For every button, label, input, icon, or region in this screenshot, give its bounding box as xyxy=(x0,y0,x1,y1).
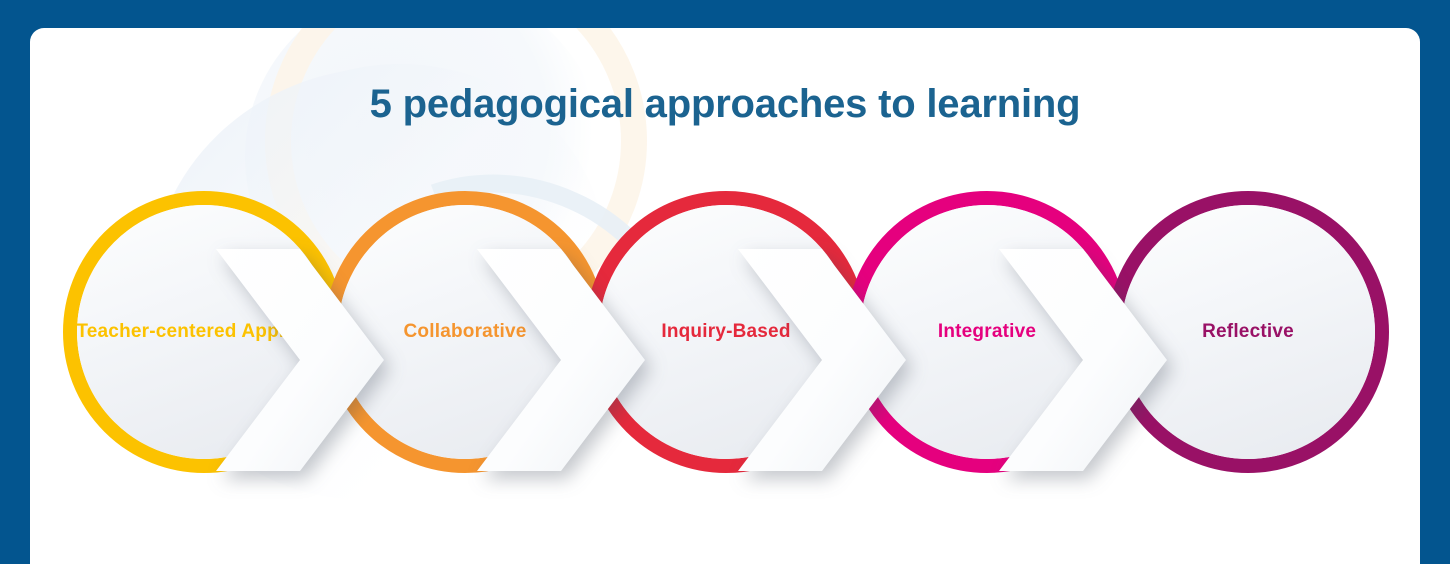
chevron-right-icon-1 xyxy=(216,249,384,471)
content-card: 5 pedagogical approaches to learning Tea… xyxy=(30,28,1420,564)
infographic-canvas: 5 pedagogical approaches to learning Tea… xyxy=(0,0,1450,564)
chevron-right-icon-2 xyxy=(477,249,645,471)
chevron-right-icon-4 xyxy=(999,249,1167,471)
process-flow-diagram: Teacher-centered Approach Collaborative … xyxy=(30,28,1420,564)
chevron-right-icon-3 xyxy=(738,249,906,471)
